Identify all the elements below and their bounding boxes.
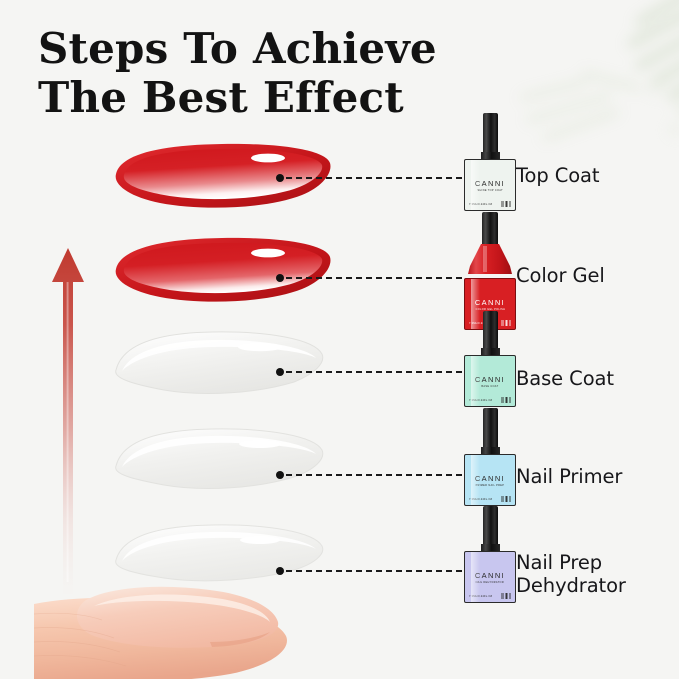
step-label-color-gel: Color Gel <box>516 264 605 287</box>
bottle-footer: 7.3ML/0.24FL.OZ <box>469 201 511 207</box>
connector-line-color-gel <box>276 273 462 283</box>
fingertip-with-nail <box>34 556 302 679</box>
bottle-volume: 7.3ML/0.24FL.OZ <box>469 204 492 207</box>
connector-dot <box>276 567 284 575</box>
bottle-volume: 7.3ML/0.24FL.OZ <box>469 400 492 403</box>
connector-dot <box>276 174 284 182</box>
step-label-nail-primer: Nail Primer <box>516 465 622 488</box>
connector-dash <box>286 371 462 373</box>
step-label-nail-prep-dehydrator: Nail Prep Dehydrator <box>516 551 626 597</box>
infographic-canvas: Steps To Achieve The Best Effect <box>0 0 679 679</box>
bottle-volume: 7.3ML/0.24FL.OZ <box>469 499 492 502</box>
bottle-body: CANNI PRIMER NAIL PREP 7.3ML/0.24FL.OZ <box>464 454 516 506</box>
connector-line-nail-prep-dehydrator <box>276 566 462 576</box>
bottle-brand: CANNI <box>475 376 505 384</box>
bottle-footer: 7.3ML/0.24FL.OZ <box>469 496 511 502</box>
upward-direction-arrow <box>48 248 88 594</box>
connector-line-nail-primer <box>276 470 462 480</box>
connector-dash <box>286 570 462 572</box>
bottle-body: CANNI NAIL DEHYDRATOR 7.3ML/0.24FL.OZ <box>464 551 516 603</box>
bottle-brand: CANNI <box>475 299 505 307</box>
bottle-cap <box>483 311 498 349</box>
bottle-footer: 7.3ML/0.24FL.OZ <box>469 593 511 599</box>
connector-dash <box>286 474 462 476</box>
bottle-subtitle: NAIL DEHYDRATOR <box>476 582 504 584</box>
step-label-base-coat: Base Coat <box>516 367 614 390</box>
connector-dot <box>276 274 284 282</box>
connector-dash <box>286 277 462 279</box>
base-coat-layer <box>108 327 328 403</box>
bottle-neck <box>481 544 500 551</box>
bottle-subtitle: PRIMER NAIL PREP <box>476 485 505 487</box>
barcode-icon <box>501 496 511 502</box>
step-label-top-coat: Top Coat <box>516 164 599 187</box>
bottle-neck <box>481 348 500 355</box>
top-coat-bottle[interactable]: CANNI SHINE TOP COAT 7.3ML/0.24FL.OZ <box>464 113 516 211</box>
barcode-icon <box>501 201 511 207</box>
bottle-subtitle: BASE COAT <box>481 386 498 388</box>
bottle-cap <box>483 408 498 448</box>
connector-line-base-coat <box>276 367 462 377</box>
bottle-footer: 7.3ML/0.24FL.OZ <box>469 397 511 403</box>
barcode-icon <box>501 397 511 403</box>
connector-dot <box>276 471 284 479</box>
bottle-brand: CANNI <box>475 572 505 580</box>
base-coat-bottle[interactable]: CANNI BASE COAT 7.3ML/0.24FL.OZ <box>464 311 516 407</box>
bottle-neck <box>481 152 500 159</box>
bottle-brand: CANNI <box>475 475 505 483</box>
connector-line-top-coat <box>276 173 462 183</box>
bottle-body: CANNI SHINE TOP COAT 7.3ML/0.24FL.OZ <box>464 159 516 211</box>
bottle-subtitle: SHINE TOP COAT <box>477 190 502 192</box>
connector-dot <box>276 368 284 376</box>
palm-leaves-icon <box>489 0 679 160</box>
color-gel-layer <box>110 235 334 307</box>
nail-primer-bottle[interactable]: CANNI PRIMER NAIL PREP 7.3ML/0.24FL.OZ <box>464 408 516 506</box>
bottle-cap <box>483 113 498 153</box>
connector-dash <box>286 177 462 179</box>
bottle-neck <box>481 447 500 454</box>
bottle-cap <box>483 506 498 545</box>
bottle-shoulder <box>464 244 516 274</box>
bottle-volume: 7.3ML/0.24FL.OZ <box>469 596 492 599</box>
nail-prep-dehydrator-bottle[interactable]: CANNI NAIL DEHYDRATOR 7.3ML/0.24FL.OZ <box>464 506 516 603</box>
bottle-body: CANNI BASE COAT 7.3ML/0.24FL.OZ <box>464 355 516 407</box>
nail-primer-layer <box>108 424 328 498</box>
page-title: Steps To Achieve The Best Effect <box>38 24 437 122</box>
bottle-brand: CANNI <box>475 180 505 188</box>
bottle-cap <box>482 212 498 244</box>
barcode-icon <box>501 593 511 599</box>
